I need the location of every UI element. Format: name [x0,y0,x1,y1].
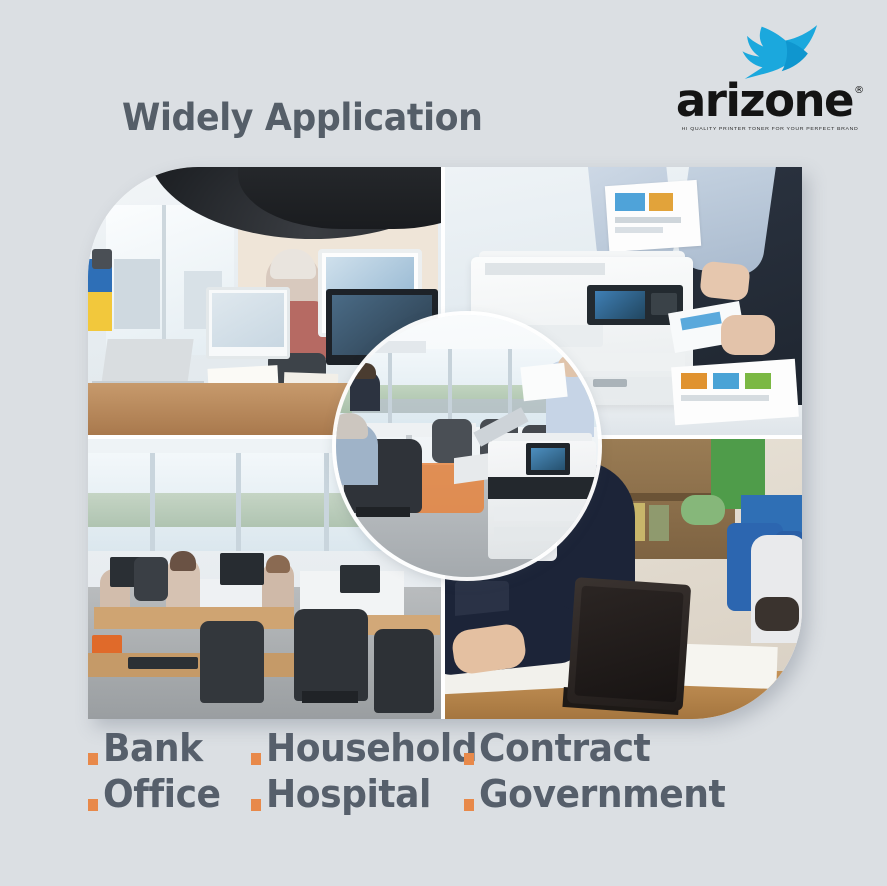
keyword-label: Office [103,772,221,816]
keyword-government: Government [464,772,738,816]
page-title: Widely Application [122,96,483,139]
bullet-icon [88,753,98,765]
photo-collage [88,167,802,719]
keyword-label: Government [479,772,725,816]
keyword-label: Contract [479,726,650,770]
bird-icon [726,22,822,82]
brand-wordmark: arizone [676,80,853,123]
keyword-contract: Contract [464,726,659,770]
brand-logo: arizone ® HI QUALITY PRINTER TONER FOR Y… [695,22,845,134]
keyword-label: Household [266,726,477,770]
registered-mark: ® [854,86,864,96]
keyword-bank: Bank [88,726,251,770]
brand-tagline: HI QUALITY PRINTER TONER FOR YOUR PERFEC… [682,126,859,132]
keyword-hospital: Hospital [251,772,464,816]
bullet-icon [88,799,98,811]
bullet-icon [251,753,261,765]
keyword-office: Office [88,772,251,816]
keyword-label: Bank [103,726,203,770]
application-keywords: Bank Household Contract Office Hospital … [88,726,802,816]
keyword-row-2: Office Hospital Government [88,772,802,816]
keyword-row-1: Bank Household Contract [88,726,802,770]
keyword-household: Household [251,726,464,770]
keyword-label: Hospital [266,772,431,816]
photo-meeting-room-printer [336,315,598,577]
bullet-icon [251,799,261,811]
bullet-icon [464,799,474,811]
bullet-icon [464,753,474,765]
